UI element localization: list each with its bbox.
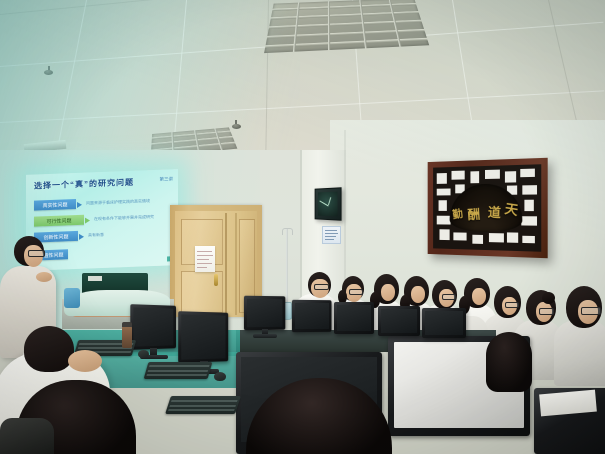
thermos-cup [122,326,132,348]
plaque-character: 天 [503,198,519,219]
thermos-lid [122,322,132,327]
blue-cloth [64,288,80,308]
computer-monitor [334,302,374,334]
computer-monitor [130,305,178,349]
plaque-character: 勤 [452,205,465,222]
computer-monitor [178,312,230,362]
computer-mouse[interactable] [214,372,226,381]
door-handle[interactable] [214,274,218,286]
keyboard[interactable] [165,396,241,414]
slide-row-chip: 可行性问题 [34,215,84,227]
computer-monitor [244,296,286,330]
bed-label [88,276,102,281]
slide-row-body: 具有新意 [88,232,104,239]
computer-monitor [378,306,420,336]
slide-row: 价值性问题 [34,245,174,260]
classroom-photo-scene: 选择一个“真”的研究问题 第三讲 真实性问题 问题来源于临床护理实践的真实情境 … [0,0,605,454]
plaque-character: 道 [488,202,502,222]
wall-clock [315,187,342,221]
slide-row: 真实性问题 问题来源于临床护理实践的真实情境 [34,195,174,210]
slide-row-body: 在现有条件下能够开展并完成研究 [94,214,154,222]
slide-row: 创新性问题 具有新意 [34,227,174,242]
computer-monitor [422,308,466,338]
slide-row: 可行性问题 在现有条件下能够开展并完成研究 [34,211,174,226]
slide-corner-tag: 第三讲 [160,176,174,183]
plaque-character: 酬 [467,204,481,224]
computer-monitor [292,300,332,332]
plaque-lattice: 天 道 酬 勤 [433,164,541,252]
computer-mouse[interactable] [138,350,149,358]
slide-title: 选择一个“真”的研究问题 [34,177,134,192]
wooden-wall-plaque: 天 道 酬 勤 [428,158,548,258]
slide-row-body: 问题来源于临床护理实践的真实情境 [86,198,150,206]
slide-row-chip: 真实性问题 [34,199,76,211]
chair-back [0,418,54,454]
iv-hook-icon [282,228,293,235]
door-notice-paper [195,246,215,272]
wall-instruction-sign [322,226,341,244]
projection-screen: 选择一个“真”的研究问题 第三讲 真实性问题 问题来源于临床护理实践的真实情境 … [26,169,178,271]
keyboard[interactable] [144,362,213,379]
